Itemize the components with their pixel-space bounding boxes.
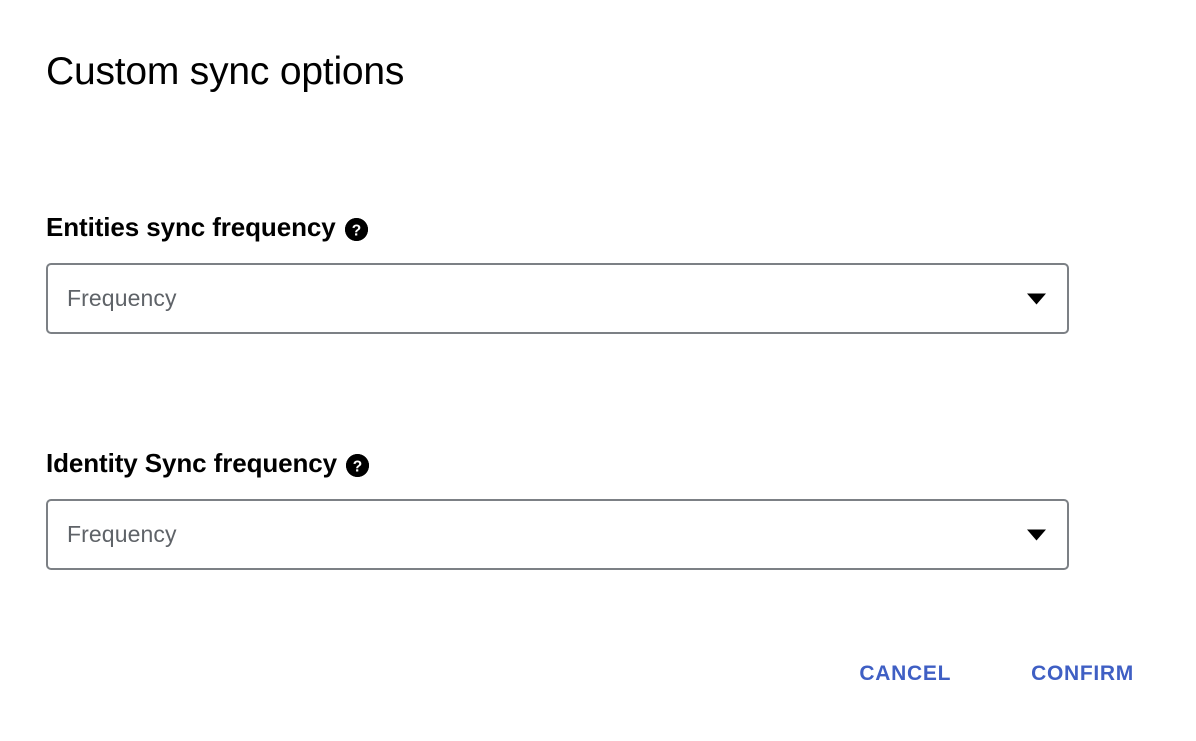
- svg-text:?: ?: [353, 458, 362, 475]
- field-label-row: Entities sync frequency ?: [46, 210, 1070, 244]
- field-group-identity-sync-frequency: Identity Sync frequency ? Frequency: [46, 446, 1070, 570]
- page-title: Custom sync options: [46, 50, 404, 95]
- select-identity-sync-frequency-value: Frequency: [48, 523, 177, 546]
- chevron-down-icon[interactable]: [1027, 293, 1046, 304]
- select-entities-sync-frequency-value: Frequency: [48, 287, 177, 310]
- help-circle-icon[interactable]: ?: [346, 454, 369, 477]
- help-circle-icon[interactable]: ?: [345, 218, 368, 241]
- select-entities-sync-frequency[interactable]: Frequency: [46, 263, 1069, 334]
- cancel-button[interactable]: CANCEL: [845, 655, 965, 692]
- select-identity-sync-frequency[interactable]: Frequency: [46, 499, 1069, 570]
- field-label-entities-sync-frequency: Entities sync frequency: [46, 210, 336, 244]
- chevron-down-icon[interactable]: [1027, 529, 1046, 540]
- field-group-entities-sync-frequency: Entities sync frequency ? Frequency: [46, 210, 1070, 334]
- confirm-button[interactable]: CONFIRM: [1017, 655, 1148, 692]
- dialog-actions: CANCEL CONFIRM: [845, 655, 1148, 692]
- svg-text:?: ?: [351, 222, 360, 239]
- field-label-identity-sync-frequency: Identity Sync frequency: [46, 446, 337, 480]
- field-label-row: Identity Sync frequency ?: [46, 446, 1070, 480]
- custom-sync-options-dialog: Custom sync options Entities sync freque…: [0, 0, 1196, 741]
